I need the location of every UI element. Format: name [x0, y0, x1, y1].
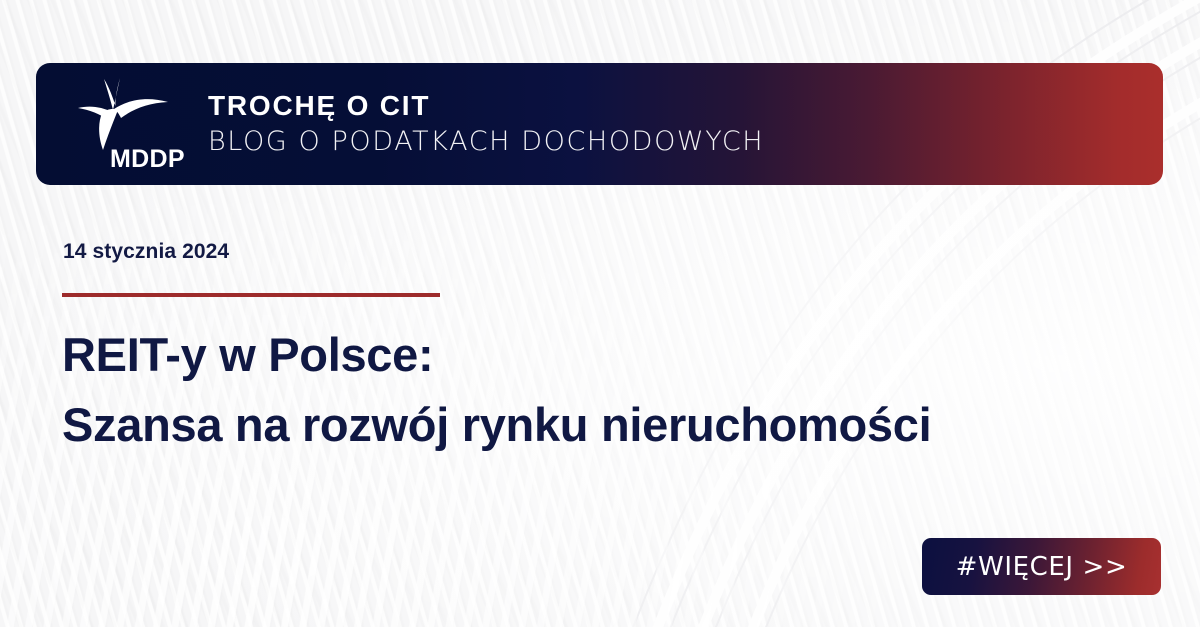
mddp-bird-mark-icon	[76, 76, 176, 154]
publish-date: 14 stycznia 2024	[63, 240, 229, 264]
blog-promo-card: MDDP TROCHĘ O CIT BLOG O PODATKACH DOCHO…	[0, 0, 1200, 627]
banner-subtitle: BLOG O PODATKACH DOCHODOWYCH	[208, 126, 764, 158]
headline-divider	[62, 293, 440, 297]
read-more-button[interactable]: #WIĘCEJ >>	[922, 538, 1161, 595]
mddp-logo: MDDP	[70, 74, 182, 174]
headline-line-2: Szansa na rozwój rynku nieruchomości	[62, 390, 1102, 460]
mddp-wordmark: MDDP	[110, 147, 185, 172]
article-headline: REIT-y w Polsce: Szansa na rozwój rynku …	[62, 320, 1102, 459]
banner-text-block: TROCHĘ O CIT BLOG O PODATKACH DOCHODOWYC…	[208, 89, 764, 158]
headline-line-1: REIT-y w Polsce:	[62, 320, 1102, 390]
banner-title: TROCHĘ O CIT	[208, 89, 764, 122]
brand-banner: MDDP TROCHĘ O CIT BLOG O PODATKACH DOCHO…	[36, 63, 1163, 185]
read-more-label: #WIĘCEJ >>	[956, 552, 1128, 582]
